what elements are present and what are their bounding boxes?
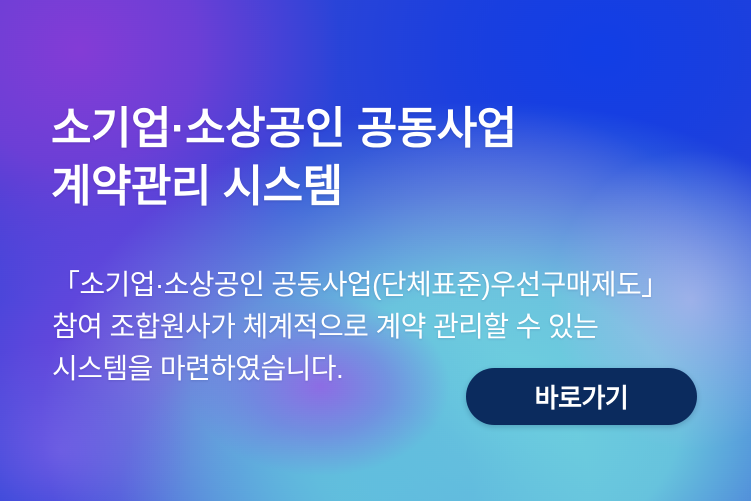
banner-headline: 소기업·소상공인 공동사업 계약관리 시스템 — [51, 100, 517, 216]
grain-overlay — [0, 0, 751, 501]
go-to-system-button[interactable]: 바로가기 — [466, 368, 697, 425]
promo-banner: 소기업·소상공인 공동사업 계약관리 시스템 「소기업·소상공인 공동사업(단체… — [0, 0, 751, 501]
